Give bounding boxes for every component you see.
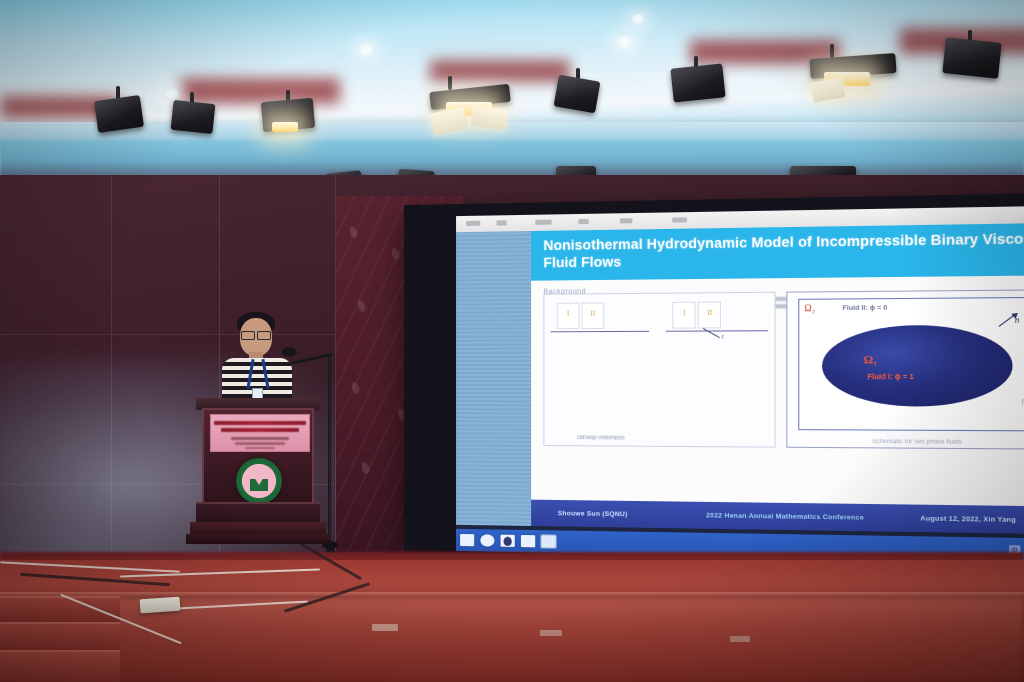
inner-domain-ellipse: Ω₁ Fluid I: ϕ = 1 [822,325,1013,407]
caption-diffuse-interface: Diffuse interface [544,435,658,442]
sharp-interface-diagram: I II [551,302,650,337]
stage-light-fixture [944,30,1004,84]
speaker [222,312,292,412]
start-icon[interactable] [460,534,474,546]
podium-conference-banner [210,414,310,452]
interface-box-label-1: I [558,310,579,318]
domain-box: Ω₂ Fluid II: ϕ = 0 Ω₁ Fluid I: ϕ = 1 n Γ [798,297,1024,432]
downlight-icon [614,36,636,49]
stage-light-fixture [672,56,728,108]
interface-box-label-2: II [699,309,720,317]
qq-icon[interactable] [501,535,515,547]
omega-inner-label: Ω₁ [864,354,877,367]
projection-screen: Nonisothermal Hydrodynamic Model of Inco… [404,193,1024,562]
podium-front-panel [202,408,314,504]
footer-date-place: August 12, 2022, Xin Yang [920,515,1024,524]
file-explorer-icon[interactable] [521,535,535,547]
power-strip [140,597,181,614]
epsilon-label: ε [721,335,724,341]
floor-marker [372,624,398,631]
omega-outer-label: Ω₂ [804,303,815,314]
slide-footer: Shouwe Sun (SQNU) 2022 Henan Annual Math… [531,500,1024,535]
floor-marker [540,630,562,636]
university-crest-icon [236,458,282,504]
podium-foot [186,534,330,544]
downlight-icon [356,44,376,56]
conference-hall-scene: Nonisothermal Hydrodynamic Model of Inco… [0,0,1024,682]
podium [196,398,320,578]
search-icon[interactable] [480,534,494,546]
stage-light-fixture [556,68,602,116]
slide-title: Nonisothermal Hydrodynamic Model of Inco… [531,223,1024,280]
podium-base [196,502,320,524]
caption-schematic: Schematic for two phase fluids [787,438,1024,446]
footer-author: Shouwe Sun (SQNU) [531,509,706,519]
glasses-icon [241,331,271,338]
stage-light-fixture [802,44,906,106]
projected-desktop: Nonisothermal Hydrodynamic Model of Inco… [456,206,1024,563]
interface-box-label-2: II [583,310,604,318]
interface-box-label-1: I [674,309,695,317]
stage-light-fixture [424,76,522,136]
figure-interfaces: I II I [543,292,775,448]
pdf-reader-icon[interactable] [541,535,555,547]
mic-pole [328,355,331,551]
pdf-side-panel[interactable] [456,231,531,526]
fluid-inner-label: Fluid I: ϕ = 1 [867,374,913,381]
stage-light-fixture [96,86,144,132]
stage-light-fixture [172,92,216,134]
microphone-icon [282,347,296,357]
figure-two-phase-schematic: Ω₂ Fluid II: ϕ = 0 Ω₁ Fluid I: ϕ = 1 n Γ… [786,289,1024,449]
stage-light-fixture [262,90,320,138]
floor-marker [730,636,750,642]
fluid-outer-label: Fluid II: ϕ = 0 [843,304,888,312]
footer-conference: 2022 Henan Annual Mathematics Conference [706,512,920,522]
slide-figures: I II I [543,289,1024,449]
slide-page: Nonisothermal Hydrodynamic Model of Inco… [531,223,1024,535]
stage-steps [0,596,120,682]
diffuse-interface-diagram: I II ε [666,301,767,337]
downlight-icon [630,14,646,24]
